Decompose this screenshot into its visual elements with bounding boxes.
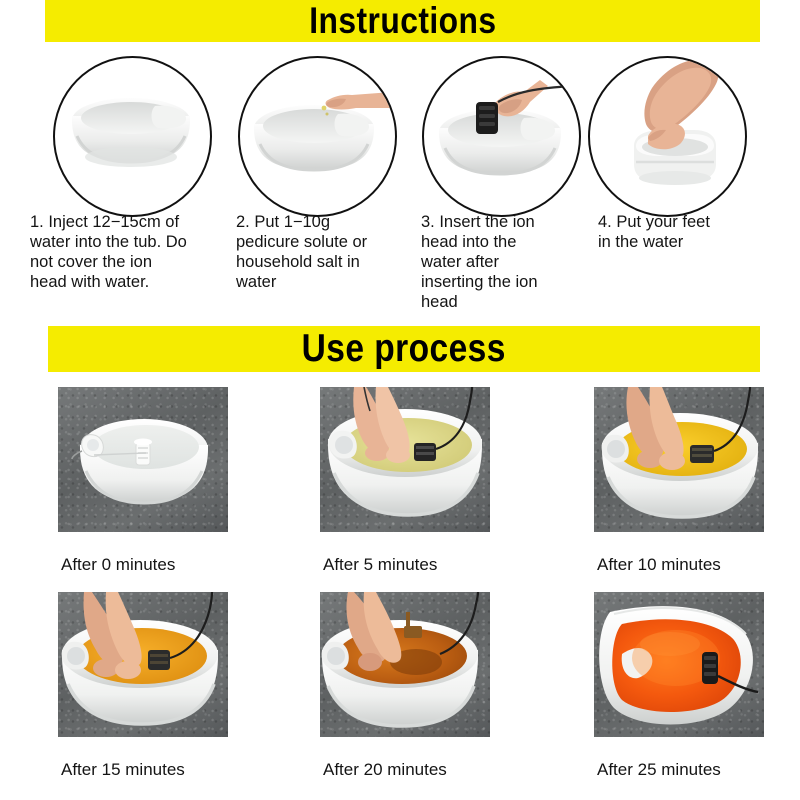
tub-clear-water-0min-icon (58, 387, 228, 532)
instruction-step-3-caption: 3. Insert the ion head into the water af… (421, 212, 591, 312)
instruction-step-1-image (53, 56, 212, 217)
instruction-step-2-caption: 2. Put 1−10g pedicure solute or househol… (236, 212, 424, 292)
instruction-step-3-image (422, 56, 581, 217)
instruction-step-2-image (238, 56, 397, 217)
tub-bright-orange-water-25min-icon (594, 592, 764, 737)
process-photo-image-4 (58, 592, 228, 737)
process-photo-image-6 (594, 592, 764, 737)
feet-in-tub-icon (590, 58, 745, 215)
tub-orange-water-15min-icon (58, 592, 228, 737)
instructions-banner-label: Instructions (309, 0, 496, 42)
tub-dark-orange-water-20min-icon (320, 592, 490, 737)
process-photo-caption-3: After 10 minutes (597, 555, 721, 575)
process-photo-image-2 (320, 387, 490, 532)
process-photo-image-5 (320, 592, 490, 737)
process-photo-caption-1: After 0 minutes (61, 555, 175, 575)
process-photo-caption-6: After 25 minutes (597, 760, 721, 780)
tub-yellow-water-10min-icon (594, 387, 764, 532)
instruction-step-1-caption: 1. Inject 12−15cm of water into the tub.… (30, 212, 242, 292)
ionic-foot-tub-empty-icon (55, 58, 210, 215)
process-photo-caption-4: After 15 minutes (61, 760, 185, 780)
instructions-banner: Instructions (45, 0, 760, 42)
hand-inserting-ion-head-icon (424, 58, 579, 215)
use-process-banner-label: Use process (302, 327, 506, 371)
process-photo-image-1 (58, 387, 228, 532)
process-photo-caption-5: After 20 minutes (323, 760, 447, 780)
tub-pale-yellow-water-5min-icon (320, 387, 490, 532)
use-process-banner: Use process (48, 326, 760, 372)
hand-adding-salt-to-tub-icon (240, 58, 395, 215)
instructions-section: 1. Inject 12−15cm of water into the tub.… (0, 44, 800, 316)
process-photo-image-3 (594, 387, 764, 532)
process-photo-caption-2: After 5 minutes (323, 555, 437, 575)
use-process-grid: After 0 minutes (0, 380, 800, 800)
instruction-step-4-image (588, 56, 747, 217)
instruction-step-4-caption: 4. Put your feet in the water (598, 212, 768, 252)
